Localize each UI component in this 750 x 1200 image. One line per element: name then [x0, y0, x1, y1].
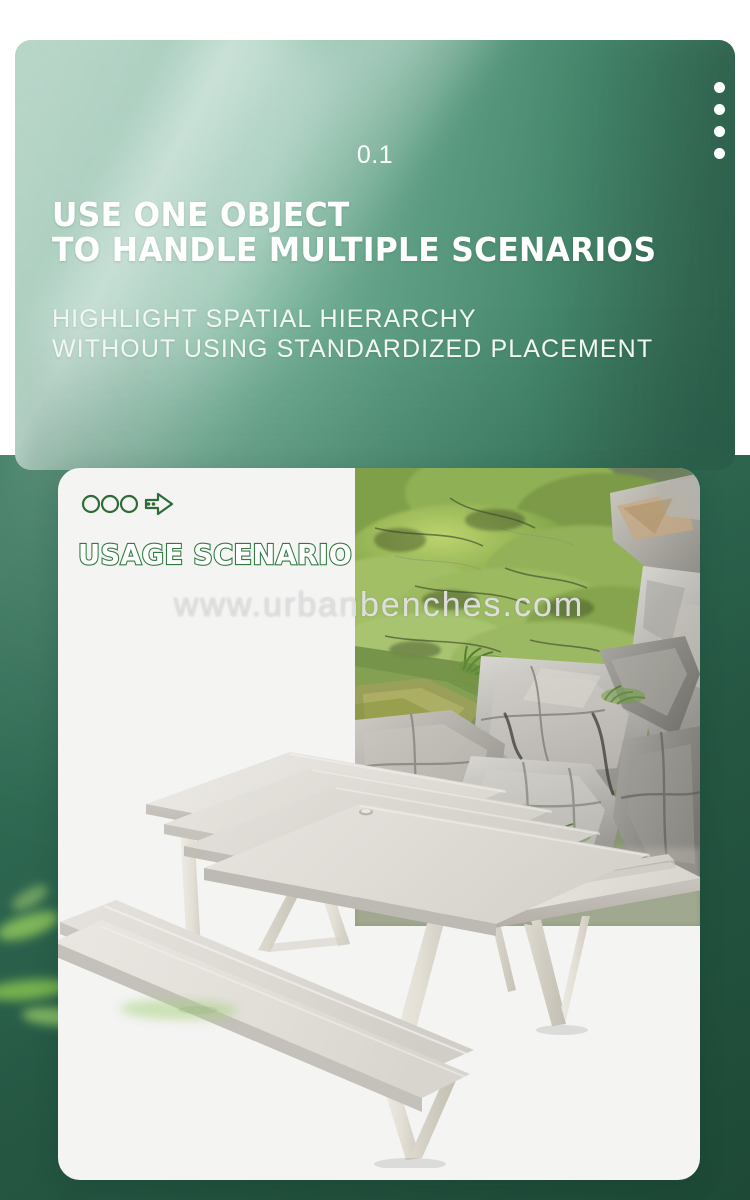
dot-indicator-3[interactable]: [714, 126, 725, 137]
usage-scenario-card: www.urbanbenches.com www.urbanbenches.co…: [58, 468, 700, 1180]
dot-indicator-4[interactable]: [714, 148, 725, 159]
page-subtitle-line-1: HIGHLIGHT SPATIAL HIERARCHY: [52, 304, 653, 334]
section-number: 0.1: [0, 141, 750, 170]
page-subtitle: HIGHLIGHT SPATIAL HIERARCHY WITHOUT USIN…: [52, 304, 653, 364]
dot-indicator-2[interactable]: [714, 104, 725, 115]
product-detail-page: 0.1 USE ONE OBJECT TO HANDLE MULTIPLE SC…: [0, 0, 750, 1200]
dot-indicator-1[interactable]: [714, 82, 725, 93]
page-subtitle-line-2: WITHOUT USING STANDARDIZED PLACEMENT: [52, 334, 653, 364]
card-heading: USAGE SCENARIO: [78, 538, 352, 571]
page-title: USE ONE OBJECT TO HANDLE MULTIPLE SCENAR…: [52, 197, 656, 267]
page-title-line-2: TO HANDLE MULTIPLE SCENARIOS: [52, 232, 656, 267]
three-circles-arrow-svg: [80, 490, 190, 518]
rocky-pine-landscape-photo: [355, 468, 700, 926]
page-title-line-1: USE ONE OBJECT: [52, 197, 656, 232]
page-indicator-dots[interactable]: [714, 82, 725, 159]
near-bench: [58, 900, 474, 1160]
photo-svg: [355, 468, 700, 926]
three-circles-arrow-icon: [80, 490, 190, 518]
